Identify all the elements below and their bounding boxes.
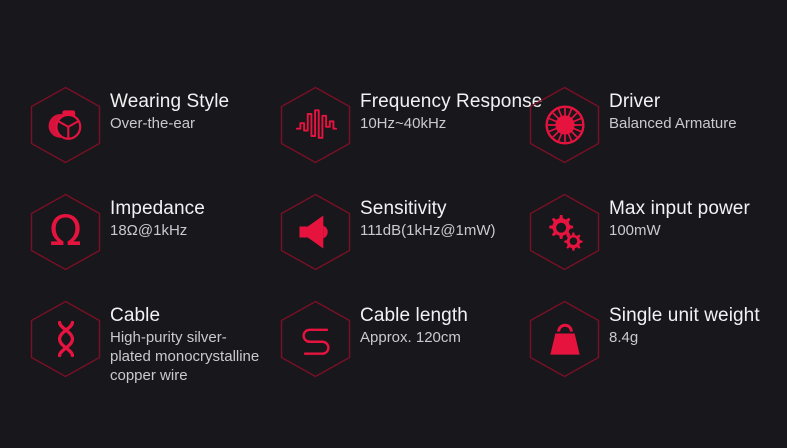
hex-badge-driver: [529, 86, 600, 164]
hex-badge-wearing-style: [30, 86, 101, 164]
spec-title: Wearing Style: [110, 91, 229, 113]
spec-item-frequency-response: Frequency Response 10Hz~40kHz: [262, 74, 521, 181]
weight-icon: [529, 300, 600, 378]
hex-badge-sensitivity: [280, 193, 351, 271]
hex-badge-cable-length: [280, 300, 351, 378]
spec-title: Impedance: [110, 198, 205, 220]
spec-title: Cable: [110, 305, 260, 327]
spec-value: 111dB(1kHz@1mW): [360, 221, 496, 240]
hex-badge-max-input-power: [529, 193, 600, 271]
spec-text-impedance: Impedance 18Ω@1kHz: [110, 198, 205, 240]
driver-wheel-icon: [529, 86, 600, 164]
waveform-frequency-icon: [280, 86, 351, 164]
spec-title: Sensitivity: [360, 198, 496, 220]
spec-item-wearing-style: Wearing Style Over-the-ear: [0, 74, 262, 181]
spec-title: Frequency Response: [360, 91, 521, 113]
speaker-sensitivity-icon: [280, 193, 351, 271]
gears-max-power-icon: [529, 193, 600, 271]
spec-title: Driver: [609, 91, 737, 113]
spec-text-driver: Driver Balanced Armature: [609, 91, 737, 133]
spec-text-cable: Cable High-purity silver-plated monocrys…: [110, 305, 260, 385]
twisted-cable-icon: [30, 300, 101, 378]
spec-value: 10Hz~40kHz: [360, 114, 521, 133]
spec-title: Max input power: [609, 198, 750, 220]
spec-text-single-unit-weight: Single unit weight 8.4g: [609, 305, 760, 347]
spec-value: Approx. 120cm: [360, 328, 468, 347]
hex-badge-frequency-response: [280, 86, 351, 164]
spec-value: Balanced Armature: [609, 114, 737, 133]
spec-item-single-unit-weight: Single unit weight 8.4g: [521, 288, 787, 438]
spec-text-wearing-style: Wearing Style Over-the-ear: [110, 91, 229, 133]
spec-title: Single unit weight: [609, 305, 760, 327]
spec-item-max-input-power: Max input power 100mW: [521, 181, 787, 288]
omega-impedance-icon: Ω: [30, 193, 101, 271]
spec-item-cable: Cable High-purity silver-plated monocrys…: [0, 288, 262, 438]
spec-value: High-purity silver-plated monocrystallin…: [110, 328, 260, 385]
spec-value: 18Ω@1kHz: [110, 221, 205, 240]
spec-text-frequency-response: Frequency Response 10Hz~40kHz: [360, 91, 521, 133]
spec-title: Cable length: [360, 305, 468, 327]
spec-item-cable-length: Cable length Approx. 120cm: [262, 288, 521, 438]
spec-value: Over-the-ear: [110, 114, 229, 133]
spec-value: 100mW: [609, 221, 750, 240]
spec-grid: Wearing Style Over-the-ear Frequency Res…: [0, 74, 787, 438]
spec-text-cable-length: Cable length Approx. 120cm: [360, 305, 468, 347]
hex-badge-single-unit-weight: [529, 300, 600, 378]
spec-value: 8.4g: [609, 328, 760, 347]
cable-length-icon: [280, 300, 351, 378]
hex-badge-impedance: Ω: [30, 193, 101, 271]
spec-item-sensitivity: Sensitivity 111dB(1kHz@1mW): [262, 181, 521, 288]
hex-badge-cable: [30, 300, 101, 378]
spec-item-impedance: Ω Impedance 18Ω@1kHz: [0, 181, 262, 288]
spec-text-max-input-power: Max input power 100mW: [609, 198, 750, 240]
spec-item-driver: Driver Balanced Armature: [521, 74, 787, 181]
headphone-wearing-style-icon: [30, 86, 101, 164]
spec-sheet: Wearing Style Over-the-ear Frequency Res…: [0, 0, 787, 448]
spec-text-sensitivity: Sensitivity 111dB(1kHz@1mW): [360, 198, 496, 240]
